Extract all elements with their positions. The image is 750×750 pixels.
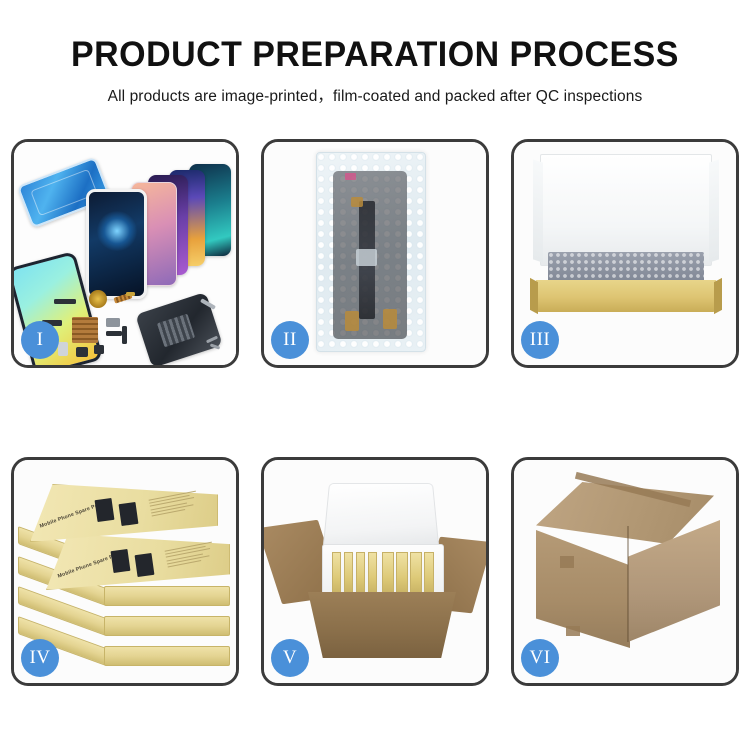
process-step-panel-1[interactable]: I (11, 139, 239, 368)
step-badge-4: IV (21, 639, 59, 677)
kraft-tray-box-icon (536, 280, 716, 312)
packed-boxes-group-icon (332, 552, 434, 596)
screw-tray-icon (72, 317, 98, 343)
black-phone-icon (86, 189, 147, 299)
bottom-connector-right-icon (383, 309, 397, 329)
step-badge-2: II (271, 321, 309, 359)
step-badge-5: V (271, 639, 309, 677)
top-connector-icon (351, 197, 363, 207)
step-badge-6: VI (521, 639, 559, 677)
carton-corner-seam-icon (627, 526, 629, 642)
button-part-icon (76, 347, 88, 357)
antenna-part-icon (122, 326, 127, 344)
pink-label-tag-icon (345, 173, 356, 180)
page-title: PRODUCT PREPARATION PROCESS (11, 37, 739, 74)
page-subtitle: All products are image-printed，film-coat… (0, 84, 750, 106)
vibrator-part-icon (94, 345, 104, 354)
flex-pad-icon (356, 249, 377, 266)
page-header: PRODUCT PREPARATION PROCESS All products… (0, 0, 750, 106)
bottom-connector-left-icon (345, 311, 359, 331)
speaker-part-icon (89, 290, 107, 308)
white-box-lid-icon (540, 154, 712, 266)
sim-tray-icon (58, 342, 68, 356)
process-step-panel-3[interactable]: III (511, 139, 739, 368)
bubble-wrap-bag-icon (316, 152, 426, 352)
cardboard-carton-icon (308, 592, 456, 658)
foam-box-lid-icon (323, 483, 440, 549)
camera-module-icon (106, 318, 120, 327)
carton-label-left-icon (560, 556, 574, 568)
flex-cable-part-icon (54, 299, 76, 304)
process-step-panel-2[interactable]: II (261, 139, 489, 368)
step-badge-1: I (21, 321, 59, 359)
product-preparation-page: PRODUCT PREPARATION PROCESS All products… (0, 0, 750, 750)
process-step-panel-4[interactable]: Mobile Phone Spare Parts Mobile Phone Sp… (11, 457, 239, 686)
gold-connector-icon (126, 292, 135, 296)
step-badge-3: III (521, 321, 559, 359)
ribbon-part-icon (106, 331, 122, 336)
carton-left-face-icon (536, 530, 630, 648)
process-step-panel-6[interactable]: VI (511, 457, 739, 686)
process-step-panel-5[interactable]: V (261, 457, 489, 686)
carton-label-bottom-icon (566, 626, 580, 636)
process-steps-grid: I II I (11, 139, 739, 686)
